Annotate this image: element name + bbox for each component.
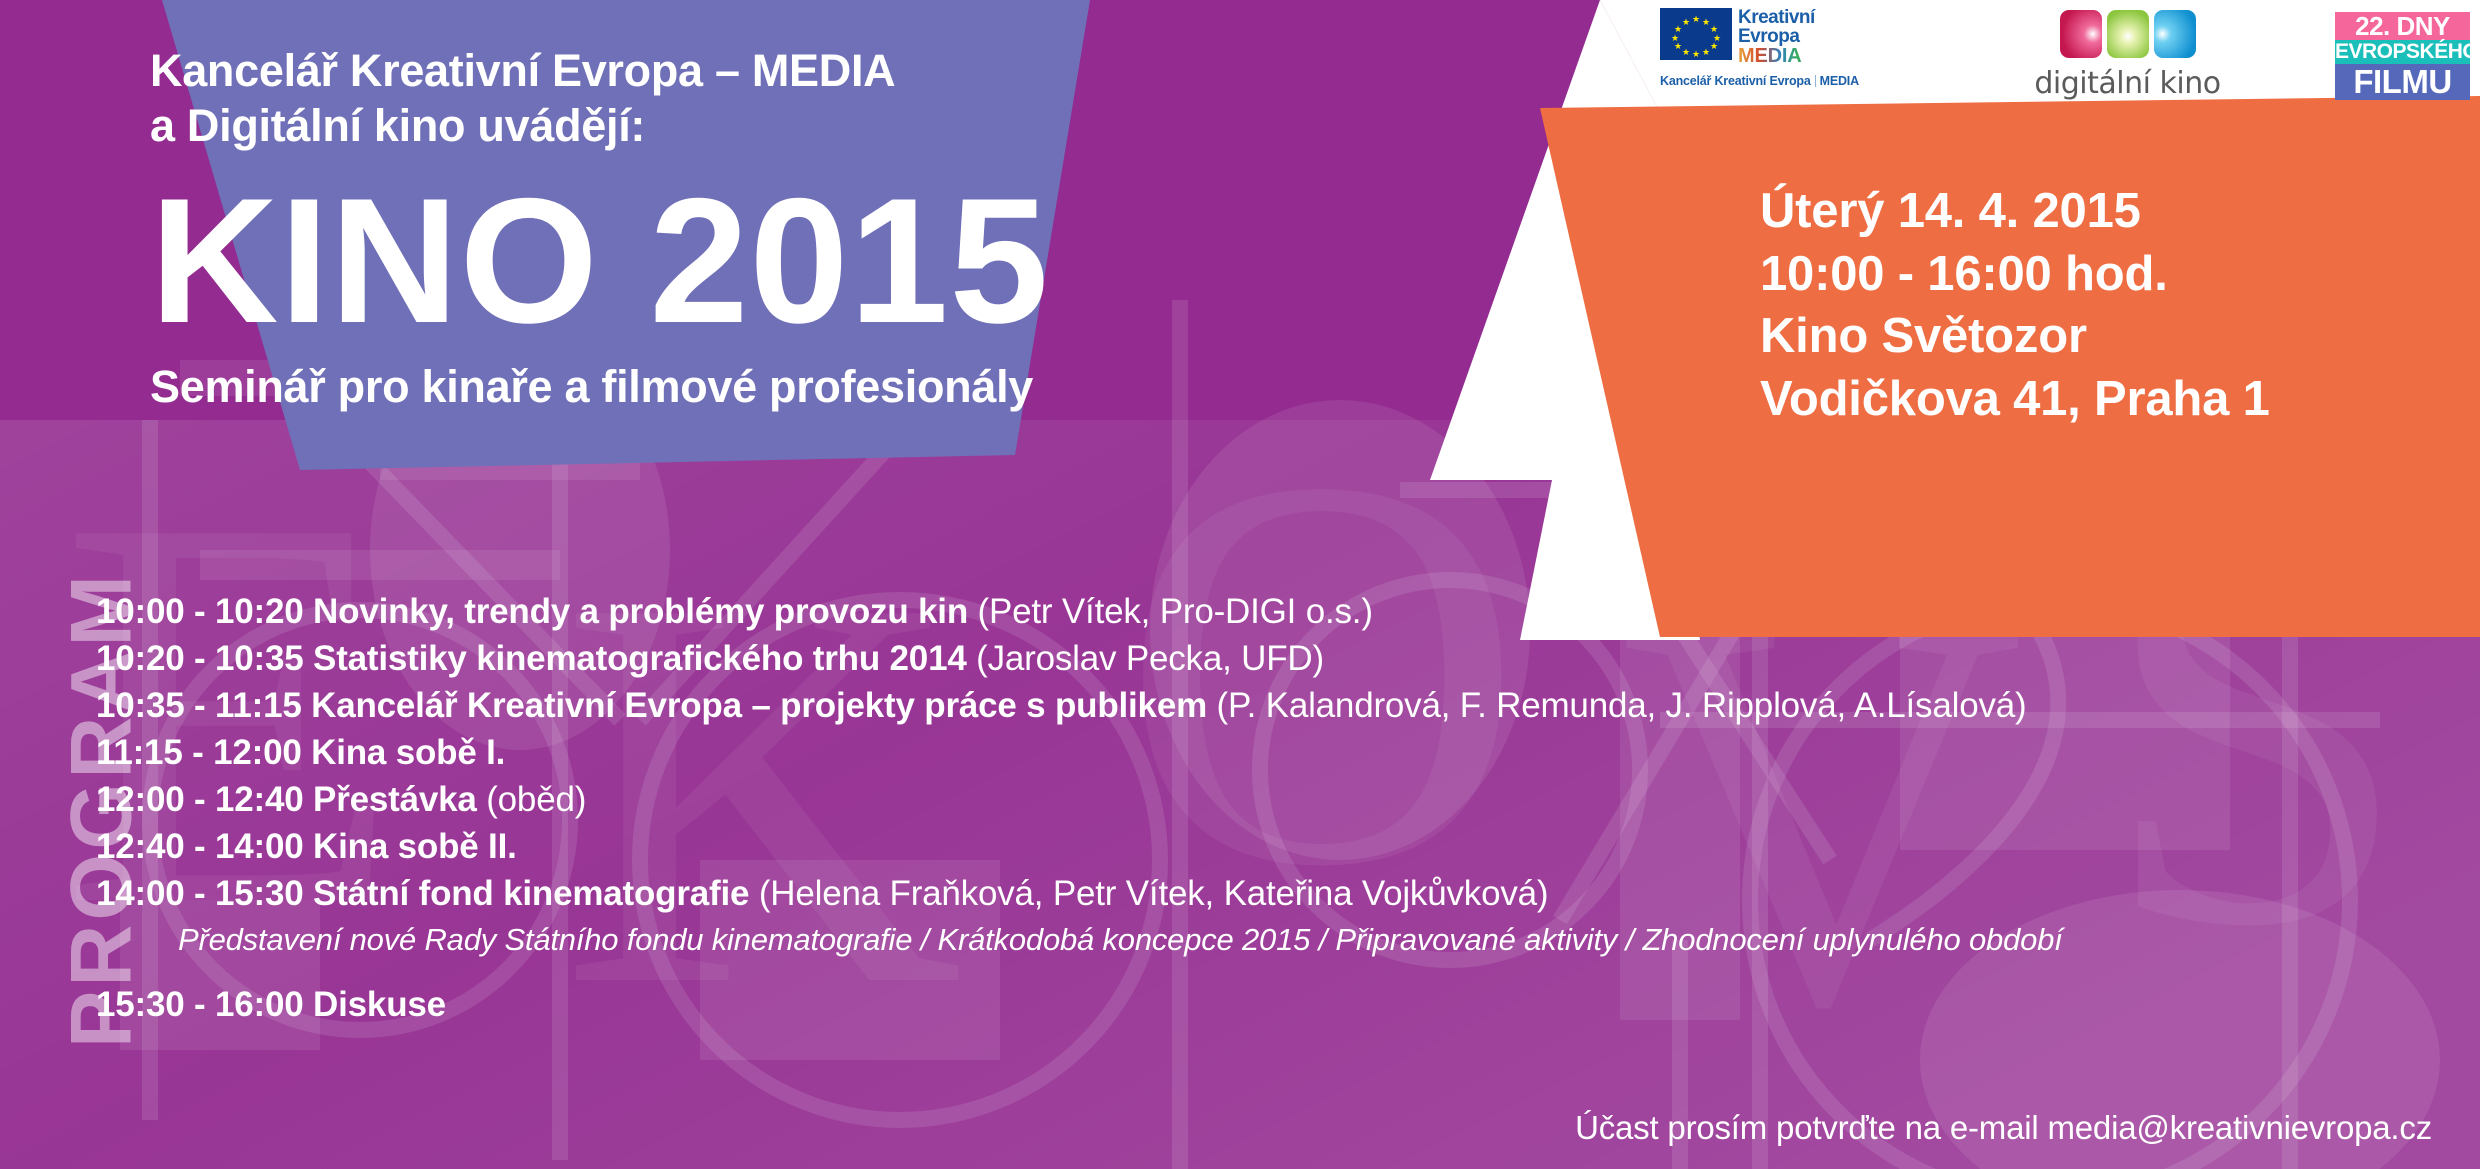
program-row-time-title: 14:00 - 15:30 Státní fond kinematografie [96,874,749,913]
program-row-speakers: (Petr Vítek, Pro-DIGI o.s.) [968,592,1373,631]
program-row: 12:00 - 12:40 Přestávka (oběd) [96,776,2426,823]
program-row: 10:35 - 11:15 Kancelář Kreativní Evropa … [96,682,2426,729]
dny-line-2: EVROPSKÉHO [2335,40,2470,64]
kicker-line-1: Kancelář Kreativní Evropa – MEDIA [150,44,1450,99]
event-details-panel: Úterý 14. 4. 2015 10:00 - 16:00 hod. Kin… [1760,180,2460,431]
program-row-speakers: (Helena Fraňková, Petr Vítek, Kateřina V… [749,874,1548,913]
program-row-time-title: 11:15 - 12:00 Kina sobě I. [96,733,505,772]
event-venue: Kino Světozor [1760,305,2460,368]
logo-eu-word-kreativni: Kreativní [1738,8,1815,27]
dk-square-blue-icon [2154,10,2196,58]
page-subtitle: Seminář pro kinaře a filmové profesionál… [150,360,1450,414]
digitalni-kino-wordmark: digitální kino [2034,66,2220,101]
program-row: 10:00 - 10:20 Novinky, trendy a problémy… [96,588,2426,635]
program-row-time-title: 10:00 - 10:20 Novinky, trendy a problémy… [96,592,968,631]
program-row: 12:40 - 14:00 Kina sobě II. [96,823,2426,870]
logo-kreativni-evropa-media: ★ ★ ★ ★ ★ ★ ★ ★ ★ ★ ★ ★ Kreativní Evropa… [1660,8,1920,88]
program-row-time-title: 12:00 - 12:40 Přestávka [96,780,477,819]
program-row-time-title: 15:30 - 16:00 Diskuse [96,985,446,1024]
program-row-note: Představení nové Rady Státního fondu kin… [96,917,2426,963]
logo-dny-evropskeho-filmu: 22. DNY EVROPSKÉHO FILMU [2335,12,2470,100]
kicker-line-2: a Digitální kino uvádějí: [150,99,1450,154]
program-row: 15:30 - 16:00 Diskuse [96,981,2426,1028]
dk-square-green-icon [2107,10,2149,58]
logo-bar: ★ ★ ★ ★ ★ ★ ★ ★ ★ ★ ★ ★ Kreativní Evropa… [1660,8,2470,113]
program-row-time-title: 10:35 - 11:15 Kancelář Kreativní Evropa … [96,686,1207,725]
page-title: KINO 2015 [150,172,1450,350]
logo-eu-word-evropa: Evropa [1738,27,1815,46]
eu-flag-icon: ★ ★ ★ ★ ★ ★ ★ ★ ★ ★ ★ ★ [1660,8,1732,60]
logo-eu-caption-right: MEDIA [1820,74,1859,88]
program-row: 11:15 - 12:00 Kina sobě I. [96,729,2426,776]
program-row-time-title: 10:20 - 10:35 Statistiky kinematografick… [96,639,967,678]
dny-line-3: FILMU [2335,64,2470,100]
dk-square-pink-icon [2060,10,2102,58]
logo-digitalni-kino: digitální kino [2028,10,2228,101]
logo-eu-caption: Kancelář Kreativní EvropaMEDIA [1660,74,1859,88]
dny-line-1: 22. DNY [2335,12,2470,40]
event-address: Vodičkova 41, Praha 1 [1760,368,2460,431]
logo-eu-caption-left: Kancelář Kreativní Evropa [1660,74,1811,88]
header-text-block: Kancelář Kreativní Evropa – MEDIA a Digi… [150,44,1450,414]
digitalni-kino-mark-icon [2060,10,2196,58]
poster-canvas: E K O V S [0,0,2480,1169]
program-row: 14:00 - 15:30 Státní fond kinematografie… [96,870,2426,917]
logo-eu-word-media: MEDIA [1738,46,1815,66]
event-time: 10:00 - 16:00 hod. [1760,243,2460,306]
event-date: Úterý 14. 4. 2015 [1760,180,2460,243]
logo-eu-caption-divider [1815,75,1816,87]
program-row-speakers: (P. Kalandrová, F. Remunda, J. Ripplová,… [1207,686,2026,725]
program-row-speakers: (oběd) [477,780,587,819]
rsvp-note: Účast prosím potvrďte na e-mail media@kr… [1575,1109,2432,1147]
program-list: 10:00 - 10:20 Novinky, trendy a problémy… [96,588,2426,1028]
program-row-time-title: 12:40 - 14:00 Kina sobě II. [96,827,517,866]
program-row-speakers: (Jaroslav Pecka, UFD) [967,639,1324,678]
program-row: 10:20 - 10:35 Statistiky kinematografick… [96,635,2426,682]
program-spacer [96,963,2426,981]
